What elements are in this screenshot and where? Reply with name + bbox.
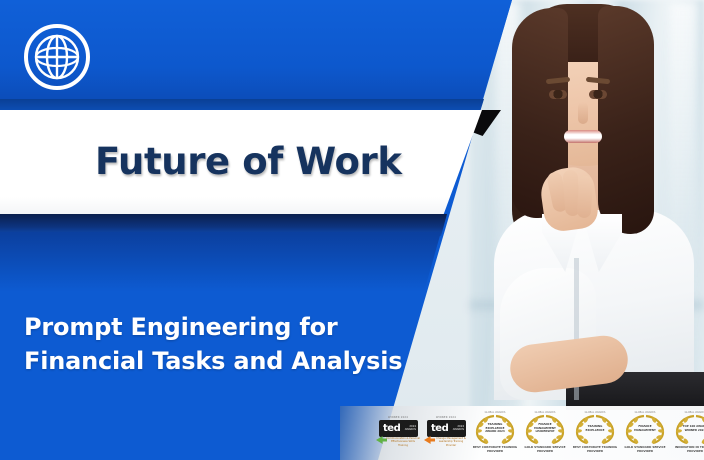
award-badge-ted: WINNER 2024 ted 2024 AWARDS Change Manag… xyxy=(424,416,468,450)
eye-left xyxy=(549,90,567,99)
laurel-wreath-icon: TRAINING EXCELLENCE xyxy=(573,414,617,445)
badge-center-text: FINANCE MANAGEMENT LEADERSHIP xyxy=(532,419,558,438)
award-badge-laurel: GLOBAL AWARDS xyxy=(472,412,518,454)
badge-center-text: TOP 100 AWARD WINNER 2024 xyxy=(682,419,704,438)
badge-caption: Change Management & Leadership Training … xyxy=(434,437,468,447)
laurel-wreath-icon: FINANCE MANAGEMENT LEADERSHIP xyxy=(523,414,567,445)
badge-center-text: FINANCE MANAGEMENT xyxy=(632,419,658,438)
award-badge-laurel: GLOBAL AWARDS xyxy=(622,412,668,454)
badge-caption: GOLD STANDARD SERVICE PROVIDER xyxy=(622,446,668,453)
badge-center-text: TRAINING EXCELLENCE xyxy=(582,419,608,438)
award-badge-ted: WINNER 2024 ted 2024 AWARDS Communicatio… xyxy=(376,416,420,450)
globe-icon xyxy=(22,22,92,92)
eye-right xyxy=(589,90,607,99)
badge-caption: BEST CORPORATE TRAINING PROVIDER xyxy=(572,446,618,453)
nose xyxy=(578,102,588,124)
badge-wordmark: ted xyxy=(427,424,448,434)
badge-logo-box: ted 2024 AWARDS xyxy=(379,420,418,437)
badge-caption: Communication & Personal Effectiveness S… xyxy=(386,437,420,447)
badge-year: 2024 AWARDS xyxy=(403,421,416,435)
award-badge-laurel: GLOBAL AWARDS xyxy=(522,412,568,454)
laurel-wreath-icon: FINANCE MANAGEMENT xyxy=(623,414,667,445)
mouth xyxy=(564,130,602,143)
badge-caption: GOLD STANDARD SERVICE PROVIDER xyxy=(522,446,568,453)
badge-center-text: TRAINING EXCELLENCE AWARD 2024 xyxy=(482,419,508,438)
page-title: Future of Work xyxy=(95,140,402,183)
slide-canvas: Future of Work Prompt Engineering for Fi… xyxy=(0,0,704,460)
award-badge-strip: WINNER 2024 ted 2024 AWARDS Communicatio… xyxy=(340,406,704,460)
subtitle-line-1: Prompt Engineering for xyxy=(24,310,424,344)
hair-strand-right xyxy=(598,6,654,234)
presenter-photo xyxy=(470,0,704,460)
subtitle: Prompt Engineering for Financial Tasks a… xyxy=(24,310,424,378)
finger xyxy=(577,176,594,219)
badge-logo-box: ted 2024 AWARDS xyxy=(427,420,466,437)
laurel-wreath-icon: TRAINING EXCELLENCE AWARD 2024 xyxy=(473,414,517,445)
award-badge-laurel: GLOBAL AWARDS xyxy=(572,412,618,454)
badge-caption: BEST CORPORATE TRAINING PROVIDER xyxy=(472,446,518,453)
laurel-wreath-icon: TOP 100 AWARD WINNER 2024 xyxy=(673,414,704,445)
badge-caption: INNOVATION IN TRAINING PROVIDER xyxy=(672,446,704,453)
award-badge-laurel: GLOBAL AWARDS xyxy=(672,412,704,454)
subtitle-line-2: Financial Tasks and Analysis xyxy=(24,344,424,378)
badge-year: 2024 AWARDS xyxy=(451,421,464,435)
badge-wordmark: ted xyxy=(379,424,400,434)
